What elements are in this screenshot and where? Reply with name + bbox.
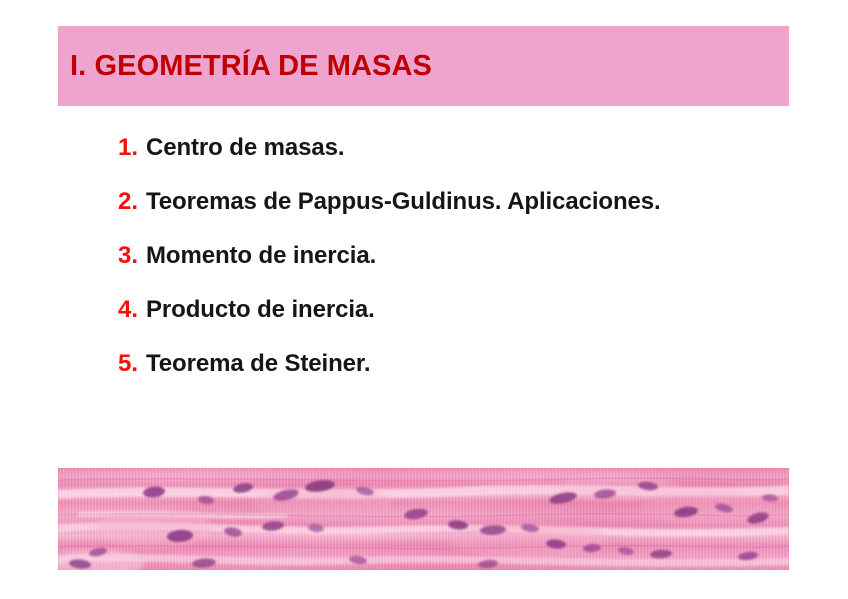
list-item[interactable]: 4. Producto de inercia. [118,296,818,350]
list-item-label: Centro de masas. [146,134,344,162]
title-banner: I. GEOMETRÍA DE MASAS [58,26,789,106]
histology-micrograph-image [58,468,789,570]
list-item-number: 3. [118,242,146,270]
page-title: I. GEOMETRÍA DE MASAS [70,50,432,83]
list-item-label: Teoremas de Pappus-Guldinus. Aplicacione… [146,188,661,216]
list-item[interactable]: 2. Teoremas de Pappus-Guldinus. Aplicaci… [118,188,818,242]
topic-list: 1. Centro de masas. 2. Teoremas de Pappu… [118,134,818,404]
list-item[interactable]: 1. Centro de masas. [118,134,818,188]
list-item-number: 2. [118,188,146,216]
list-item-number: 5. [118,350,146,378]
list-item[interactable]: 3. Momento de inercia. [118,242,818,296]
list-item-label: Producto de inercia. [146,296,375,324]
list-item-label: Momento de inercia. [146,242,376,270]
presentation-slide: I. GEOMETRÍA DE MASAS 1. Centro de masas… [0,0,848,599]
list-item-label: Teorema de Steiner. [146,350,370,378]
list-item-number: 1. [118,134,146,162]
list-item-number: 4. [118,296,146,324]
micrograph-canvas [58,468,789,570]
list-item[interactable]: 5. Teorema de Steiner. [118,350,818,404]
